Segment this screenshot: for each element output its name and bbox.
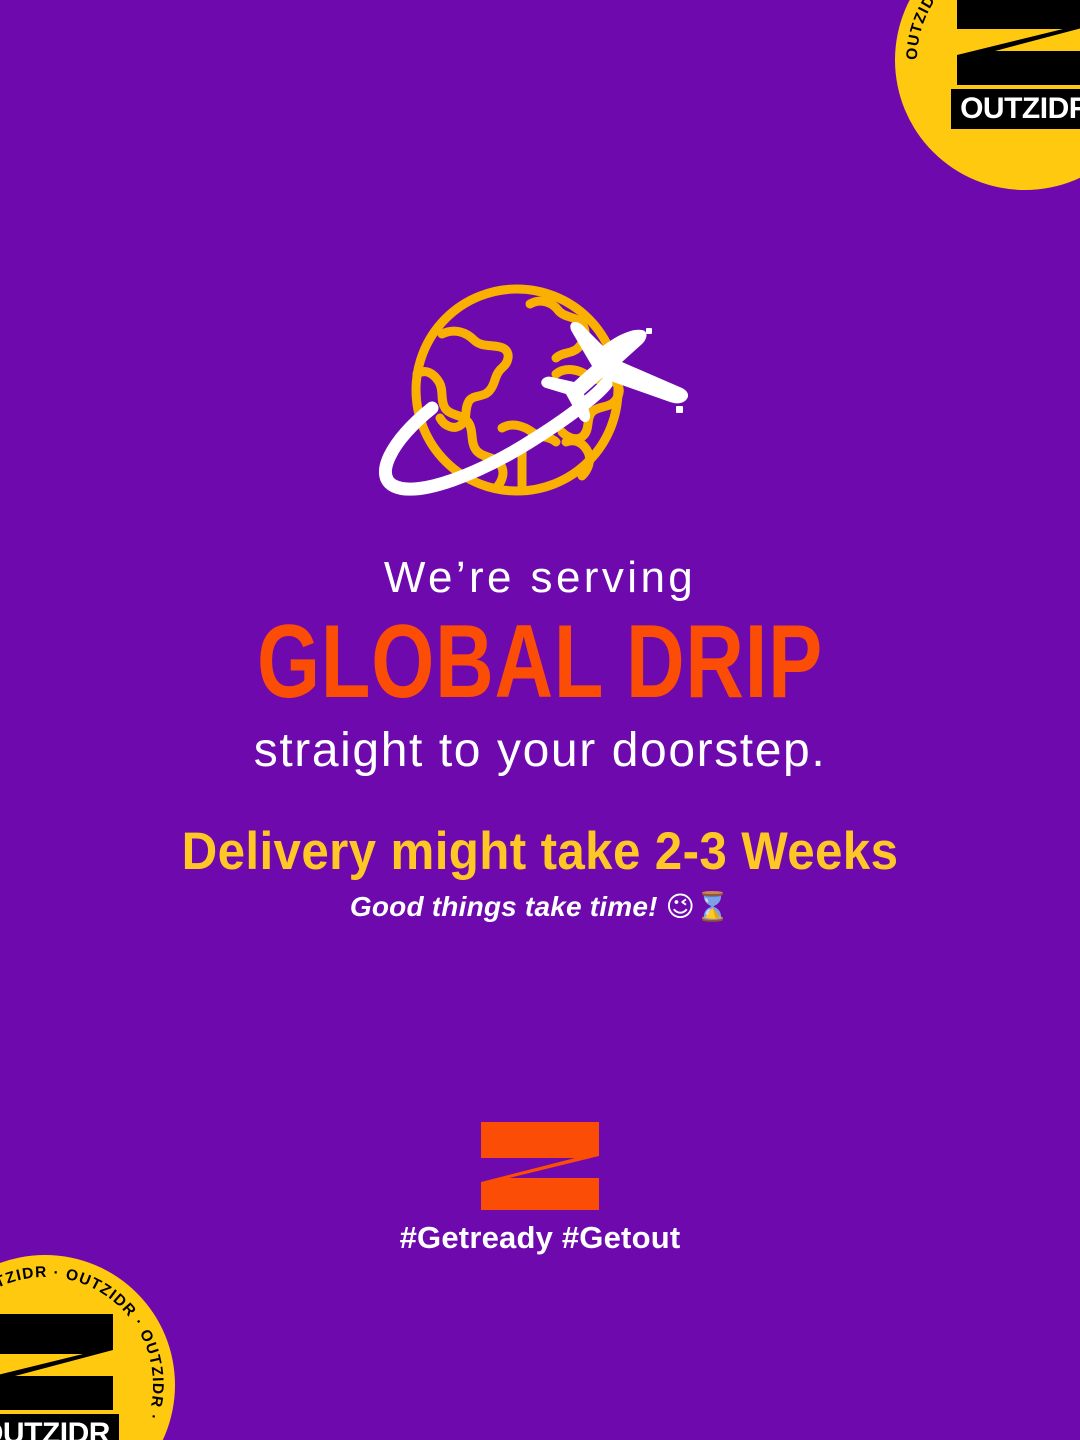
outzidr-seal-top-right: OUTZIDR · OUTZIDR · OUTZIDR · OUTZIDR · … [895, 0, 1080, 190]
reassurance-text: Good things take time! [350, 891, 658, 922]
seal-z-mark-top-right [957, 0, 1080, 85]
footer-block: #Getready #Getout [0, 1120, 1080, 1256]
outzidr-seal-bottom-left: OUTZIDR · OUTZIDR · OUTZIDR · OUTZIDR · … [0, 1255, 175, 1440]
seal-wordmark-bottom-left: OUTZIDR [0, 1417, 111, 1440]
delivery-notice: Delivery might take 2-3 Weeks Good thing… [0, 822, 1080, 926]
seal-z-mark-bottom-left [0, 1314, 113, 1410]
subline-text: straight to your doorstep. [0, 722, 1080, 780]
seal-core-bottom-left: OUTZIDR [0, 1310, 119, 1440]
seal-core-top-right: OUTZIDR [951, 0, 1080, 135]
page-title: GLOBAL DRIP [119, 610, 961, 714]
wink-hourglass-emoji: 😉⌛ [666, 890, 730, 923]
promo-poster: We’re serving GLOBAL DRIP straight to yo… [0, 0, 1080, 1440]
globe-with-airplane-icon [370, 282, 710, 504]
kicker-text: We’re serving [0, 552, 1080, 604]
hashtags-text: #Getready #Getout [0, 1220, 1080, 1256]
z-logo-mark [479, 1120, 601, 1212]
seal-wordmark-top-right: OUTZIDR [960, 92, 1080, 125]
delivery-reassurance: Good things take time! 😉⌛ [0, 889, 1080, 925]
delivery-time-text: Delivery might take 2-3 Weeks [38, 822, 1042, 881]
headline-block: We’re serving GLOBAL DRIP straight to yo… [0, 552, 1080, 780]
